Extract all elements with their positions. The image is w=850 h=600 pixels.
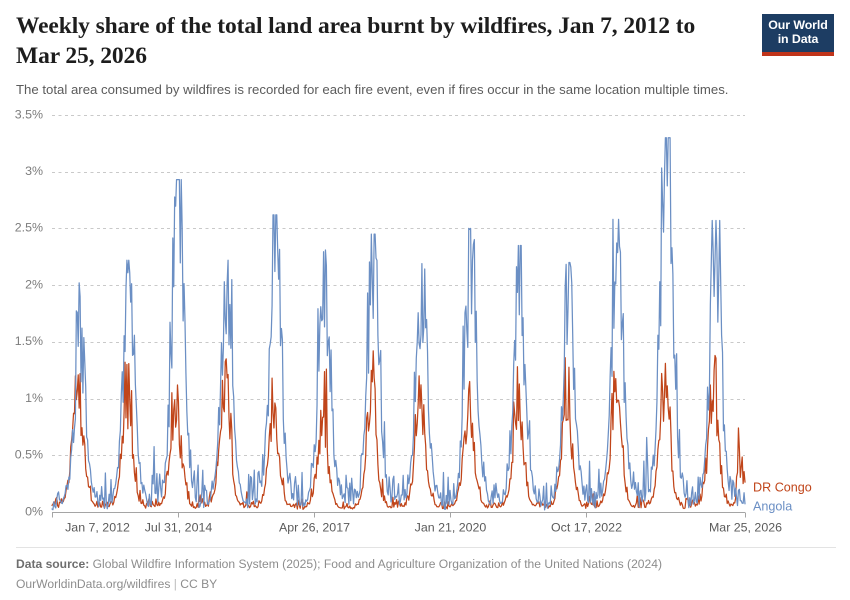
- legend-item-angola[interactable]: Angola: [753, 499, 792, 513]
- chart-legend[interactable]: DR CongoAngola: [753, 480, 812, 513]
- y-axis-tick-label: 1.5%: [15, 334, 43, 348]
- license-label[interactable]: CC BY: [180, 577, 217, 591]
- x-axis-tick-label: Jul 31, 2014: [145, 521, 213, 535]
- series-line-angola: [52, 138, 745, 510]
- logo-line-2: in Data: [778, 33, 819, 46]
- logo-line-1: Our World: [768, 19, 827, 32]
- chart-header: Weekly share of the total land area burn…: [0, 0, 850, 99]
- data-series: [52, 138, 745, 510]
- data-source-line: Data source: Global Wildfire Information…: [16, 555, 836, 573]
- y-axis-tick-label: 3%: [25, 164, 43, 178]
- y-axis-tick-label: 0.5%: [15, 448, 43, 462]
- x-axis-tick-label: Jan 21, 2020: [415, 521, 487, 535]
- x-axis: Jan 7, 2012Jul 31, 2014Apr 26, 2017Jan 2…: [52, 513, 782, 535]
- footer-separator: |: [174, 577, 177, 591]
- owid-url[interactable]: OurWorldinData.org/wildfires: [16, 577, 170, 591]
- y-axis-tick-label: 2.5%: [15, 221, 43, 235]
- data-source-label: Data source:: [16, 557, 89, 571]
- y-axis-tick-label: 1%: [25, 391, 43, 405]
- chart-page: Weekly share of the total land area burn…: [0, 0, 850, 600]
- y-axis-tick-label: 0%: [25, 504, 43, 518]
- y-axis-tick-label: 3.5%: [15, 107, 43, 121]
- chart-footer: Data source: Global Wildfire Information…: [16, 547, 836, 593]
- chart-subtitle: The total area consumed by wildfires is …: [16, 81, 836, 99]
- x-axis-tick-label: Mar 25, 2026: [709, 521, 782, 535]
- footer-links-line: OurWorldinData.org/wildfires | CC BY: [16, 575, 836, 593]
- gridlines: [52, 116, 745, 456]
- x-axis-tick-label: Jan 7, 2012: [65, 521, 130, 535]
- wildfire-line-chart[interactable]: 0%0.5%1%1.5%2%2.5%3%3.5% Jan 7, 2012Jul …: [0, 100, 850, 540]
- legend-item-dr-congo[interactable]: DR Congo: [753, 480, 812, 494]
- x-axis-tick-label: Apr 26, 2017: [279, 521, 350, 535]
- page-title: Weekly share of the total land area burn…: [16, 12, 716, 72]
- x-axis-tick-label: Oct 17, 2022: [551, 521, 622, 535]
- chart-svg: 0%0.5%1%1.5%2%2.5%3%3.5% Jan 7, 2012Jul …: [0, 100, 850, 540]
- owid-logo[interactable]: Our World in Data: [762, 14, 834, 56]
- data-source-text: Global Wildfire Information System (2025…: [93, 557, 662, 571]
- y-axis-labels: 0%0.5%1%1.5%2%2.5%3%3.5%: [15, 107, 43, 518]
- y-axis-tick-label: 2%: [25, 277, 43, 291]
